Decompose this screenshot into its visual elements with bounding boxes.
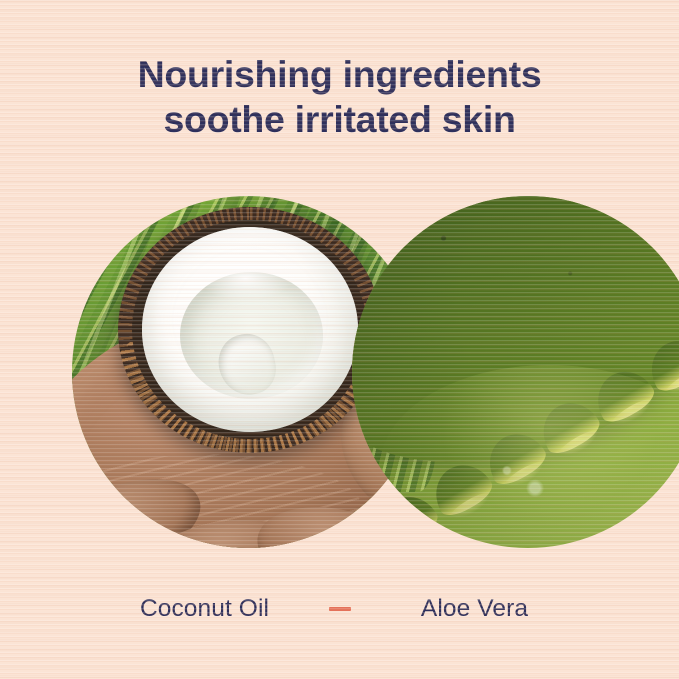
ingredient-captions: Coconut Oil Aloe Vera [0, 592, 679, 626]
coconut-flesh-highlight [198, 256, 293, 301]
product-ingredient-card: Nourishing ingredients soothe irritated … [0, 0, 679, 679]
headline-line-2: soothe irritated skin [0, 97, 679, 142]
aloe-vignette [352, 196, 679, 548]
coconut-half [118, 207, 382, 453]
caption-coconut-oil: Coconut Oil [95, 595, 315, 623]
aloe-photo [352, 196, 679, 548]
headline-line-1: Nourishing ingredients [0, 52, 679, 97]
page-title: Nourishing ingredients soothe irritated … [0, 52, 679, 142]
coconut-flesh [142, 227, 358, 432]
caption-aloe-vera: Aloe Vera [365, 595, 585, 623]
caption-separator-dash [329, 607, 351, 611]
aloe-photo-content [352, 196, 679, 548]
